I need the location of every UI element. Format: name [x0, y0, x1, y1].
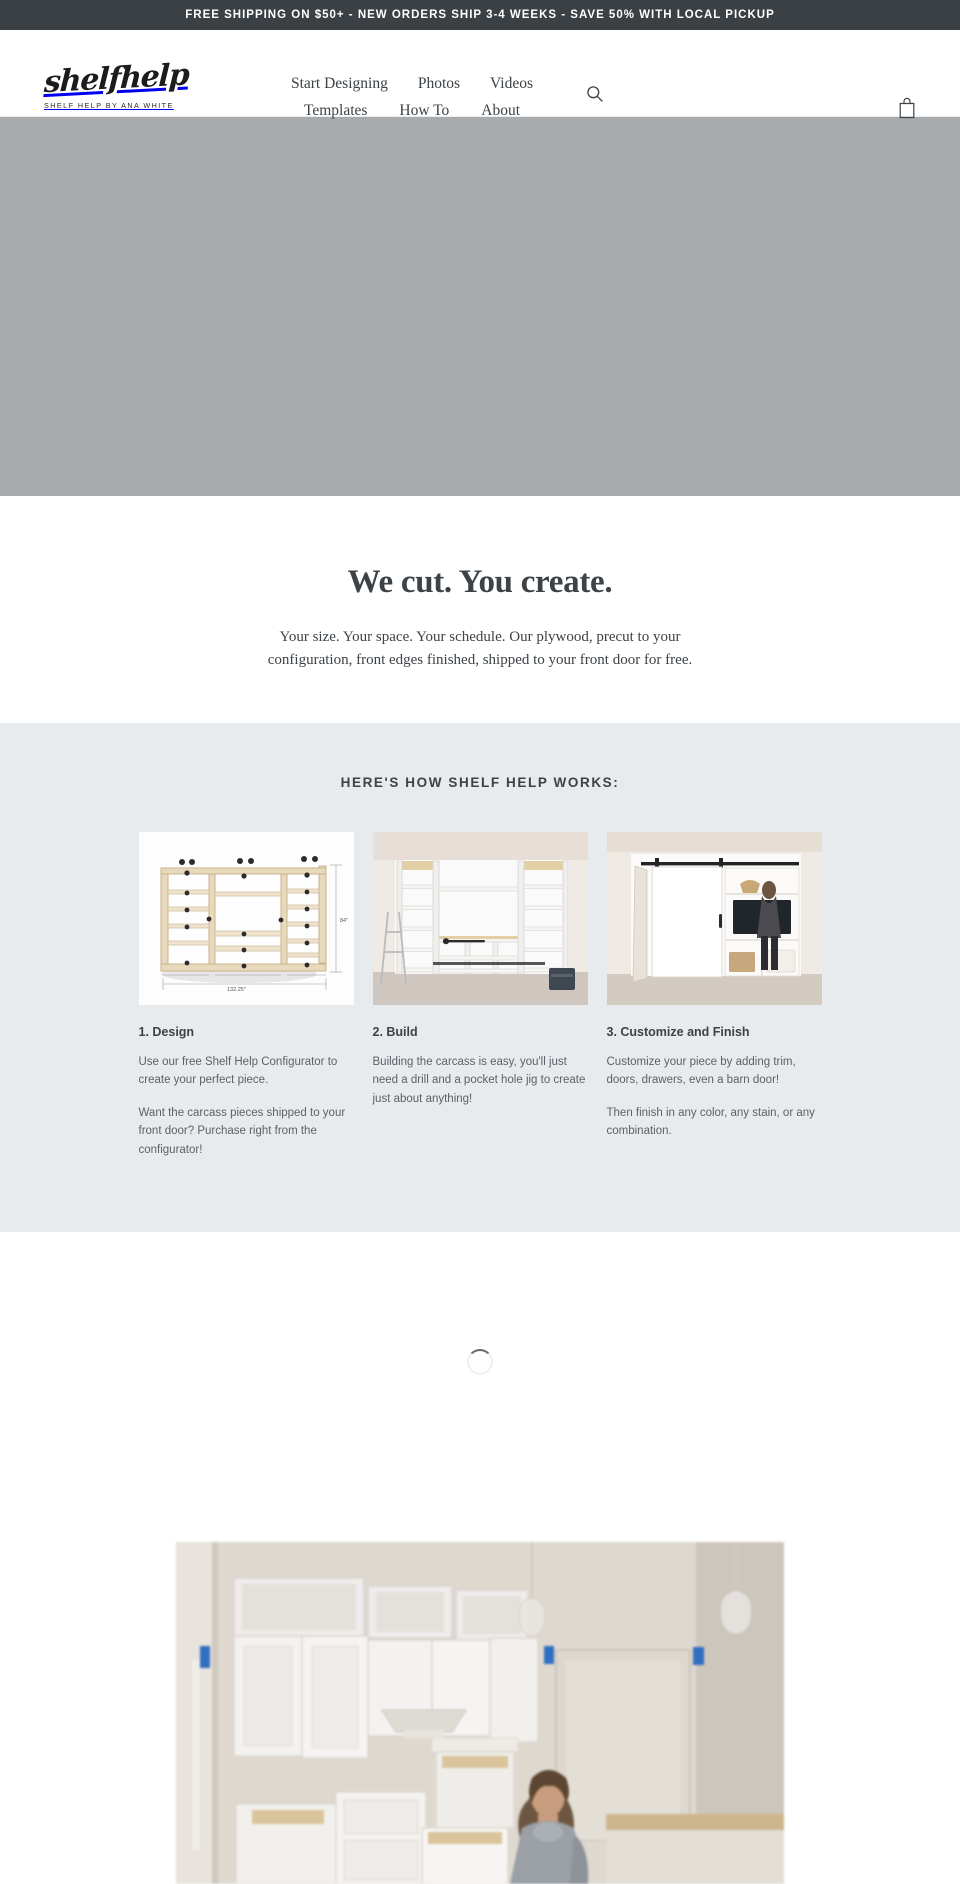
- site-logo[interactable]: shelfhelp SHELF HELP BY ANA WHITE: [44, 66, 160, 109]
- loading-spinner-icon: [467, 1349, 493, 1375]
- how-it-works-section: HERE'S HOW SHELF HELP WORKS:: [0, 723, 960, 1232]
- nav-item-templates[interactable]: Templates: [304, 103, 367, 119]
- video-section: [0, 1492, 960, 1884]
- nav-item-start-designing[interactable]: Start Designing: [291, 76, 388, 92]
- video-thumbnail[interactable]: [176, 1542, 784, 1884]
- step-card-title: 2. Build: [373, 1025, 588, 1039]
- logo-wordmark: shelfhelp: [43, 63, 160, 98]
- site-header: shelfhelp SHELF HELP BY ANA WHITE Start …: [0, 30, 960, 117]
- announcement-text: FREE SHIPPING ON $50+ - NEW ORDERS SHIP …: [185, 9, 775, 21]
- intro-section: We cut. You create. Your size. Your spac…: [0, 496, 960, 723]
- announcement-bar: FREE SHIPPING ON $50+ - NEW ORDERS SHIP …: [0, 0, 960, 30]
- logo-tagline: SHELF HELP BY ANA WHITE: [44, 102, 160, 109]
- step-card-paragraph: Building the carcass is easy, you'll jus…: [373, 1053, 588, 1109]
- page-title: We cut. You create.: [0, 564, 960, 601]
- nav-item-how-to[interactable]: How To: [399, 103, 449, 119]
- svg-text:84": 84": [340, 918, 348, 924]
- step-card-design: 84" 132.25" 1. Design Use our free Shelf…: [139, 832, 354, 1160]
- step-card-paragraph: Want the carcass pieces shipped to your …: [139, 1104, 354, 1160]
- step-card-title: 1. Design: [139, 1025, 354, 1039]
- step-card-paragraph: Customize your piece by adding trim, doo…: [607, 1053, 822, 1090]
- hero-banner: [0, 117, 960, 496]
- cad-drawing-image: 84" 132.25": [139, 832, 354, 1005]
- built-carcass-photo: [373, 832, 588, 1005]
- nav-item-about[interactable]: About: [481, 103, 520, 119]
- step-card-paragraph: Then finish in any color, any stain, or …: [607, 1104, 822, 1141]
- search-icon[interactable]: [585, 84, 605, 104]
- loading-section: [0, 1232, 960, 1492]
- svg-text:132.25": 132.25": [227, 987, 246, 993]
- steps-card-list: 84" 132.25" 1. Design Use our free Shelf…: [0, 832, 960, 1160]
- main-navigation: Start Designing Photos Videos Templates …: [262, 76, 562, 129]
- nav-item-photos[interactable]: Photos: [418, 76, 460, 92]
- intro-subtitle: Your size. Your space. Your schedule. Ou…: [255, 626, 705, 673]
- step-card-customize: 3. Customize and Finish Customize your p…: [607, 832, 822, 1160]
- nav-item-videos[interactable]: Videos: [490, 76, 533, 92]
- step-card-build: 2. Build Building the carcass is easy, y…: [373, 832, 588, 1160]
- shopping-bag-icon[interactable]: [898, 97, 916, 119]
- step-card-paragraph: Use our free Shelf Help Configurator to …: [139, 1053, 354, 1090]
- finished-media-center-photo: [607, 832, 822, 1005]
- step-card-title: 3. Customize and Finish: [607, 1025, 822, 1039]
- section-heading: HERE'S HOW SHELF HELP WORKS:: [0, 775, 960, 790]
